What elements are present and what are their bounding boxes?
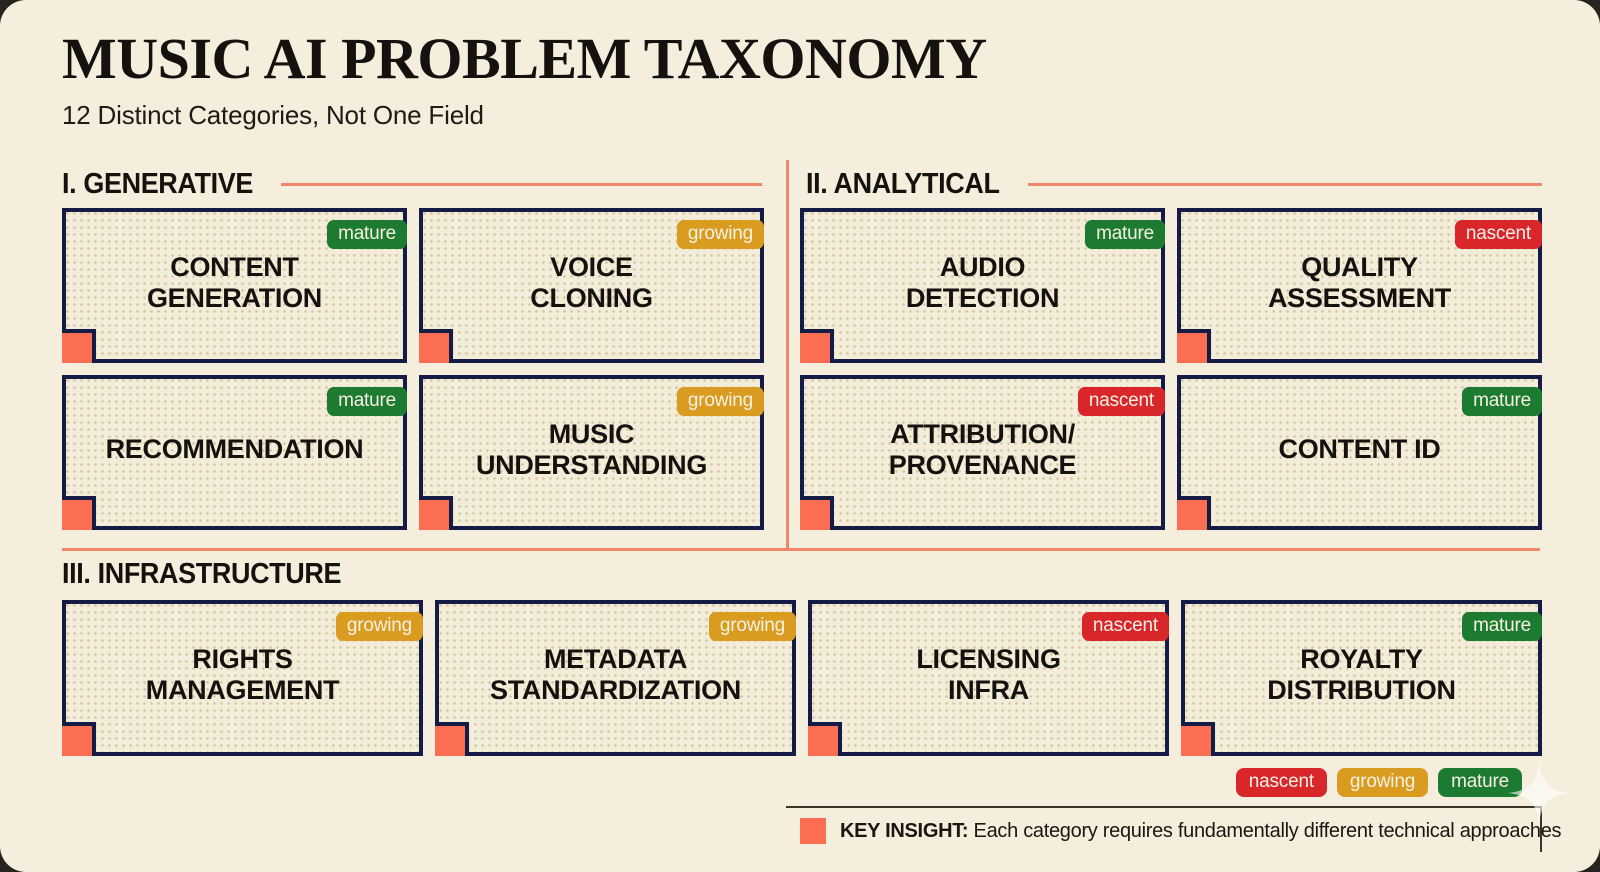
category-title: AUDIO DETECTION	[890, 252, 1075, 314]
category-card[interactable]: mature CONTENT GENERATION	[62, 208, 407, 363]
category-title: RIGHTS MANAGEMENT	[130, 644, 356, 706]
category-card[interactable]: nascent QUALITY ASSESSMENT	[1177, 208, 1542, 363]
corner-marker-icon	[419, 496, 453, 530]
maturity-badge: mature	[1085, 220, 1165, 249]
maturity-legend: nascent growing mature	[1236, 768, 1522, 797]
corner-marker-icon	[62, 496, 96, 530]
corner-marker-icon	[1181, 722, 1215, 756]
category-card[interactable]: growing RIGHTS MANAGEMENT	[62, 600, 423, 756]
section-divider	[62, 548, 1540, 551]
category-card[interactable]: growing MUSIC UNDERSTANDING	[419, 375, 764, 530]
maturity-badge: mature	[1462, 612, 1542, 641]
category-title: ATTRIBUTION/ PROVENANCE	[873, 419, 1093, 481]
category-title: RECOMMENDATION	[90, 434, 380, 465]
page-subtitle: 12 Distinct Categories, Not One Field	[62, 100, 1542, 131]
section-header-analytical: II. ANALYTICAL	[806, 168, 1542, 201]
key-insight-label: KEY INSIGHT:	[840, 820, 968, 842]
category-title: METADATA STANDARDIZATION	[474, 644, 757, 706]
page-title: MUSIC AI PROBLEM TAXONOMY	[62, 30, 1542, 88]
section-label: I. GENERATIVE	[62, 168, 253, 201]
column-divider	[786, 160, 789, 550]
maturity-badge: nascent	[1082, 612, 1169, 641]
legend-pill-growing[interactable]: growing	[1337, 768, 1428, 797]
category-card[interactable]: mature CONTENT ID	[1177, 375, 1542, 530]
category-card[interactable]: nascent LICENSING INFRA	[808, 600, 1169, 756]
section-label: II. ANALYTICAL	[806, 168, 1000, 201]
key-insight-marker-icon	[800, 818, 826, 844]
category-title: CONTENT ID	[1263, 434, 1457, 465]
legend-pill-nascent[interactable]: nascent	[1236, 768, 1327, 797]
key-insight-text: KEY INSIGHT: Each category requires fund…	[840, 820, 1561, 843]
maturity-badge: nascent	[1078, 387, 1165, 416]
corner-marker-icon	[1177, 496, 1211, 530]
category-card[interactable]: mature RECOMMENDATION	[62, 375, 407, 530]
maturity-badge: mature	[1462, 387, 1542, 416]
category-card[interactable]: mature AUDIO DETECTION	[800, 208, 1165, 363]
key-insight-body: Each category requires fundamentally dif…	[974, 820, 1562, 842]
card-grid-generative: mature CONTENT GENERATION growing VOICE …	[62, 208, 764, 530]
key-insight-bar: KEY INSIGHT: Each category requires fund…	[786, 806, 1542, 852]
maturity-badge: growing	[709, 612, 796, 641]
category-title: VOICE CLONING	[514, 252, 668, 314]
category-title: ROYALTY DISTRIBUTION	[1251, 644, 1471, 706]
corner-marker-icon	[808, 722, 842, 756]
corner-marker-icon	[62, 329, 96, 363]
maturity-badge: mature	[327, 387, 407, 416]
poster-header: MUSIC AI PROBLEM TAXONOMY 12 Distinct Ca…	[62, 30, 1542, 131]
maturity-badge: nascent	[1455, 220, 1542, 249]
corner-marker-icon	[435, 722, 469, 756]
section-rule	[281, 183, 762, 186]
corner-marker-icon	[1177, 329, 1211, 363]
corner-marker-icon	[800, 496, 834, 530]
category-title: MUSIC UNDERSTANDING	[460, 419, 723, 481]
category-card[interactable]: nascent ATTRIBUTION/ PROVENANCE	[800, 375, 1165, 530]
category-title: LICENSING INFRA	[900, 644, 1076, 706]
category-title: QUALITY ASSESSMENT	[1252, 252, 1467, 314]
corner-marker-icon	[800, 329, 834, 363]
maturity-badge: growing	[336, 612, 423, 641]
category-card[interactable]: growing METADATA STANDARDIZATION	[435, 600, 796, 756]
category-card[interactable]: mature ROYALTY DISTRIBUTION	[1181, 600, 1542, 756]
card-grid-infrastructure: growing RIGHTS MANAGEMENT growing METADA…	[62, 600, 1542, 756]
legend-pill-mature[interactable]: mature	[1438, 768, 1522, 797]
card-grid-analytical: mature AUDIO DETECTION nascent QUALITY A…	[800, 208, 1542, 530]
maturity-badge: growing	[677, 220, 764, 249]
corner-marker-icon	[419, 329, 453, 363]
section-header-infrastructure: III. INFRASTRUCTURE	[62, 558, 762, 591]
poster-canvas: MUSIC AI PROBLEM TAXONOMY 12 Distinct Ca…	[0, 0, 1600, 872]
maturity-badge: mature	[327, 220, 407, 249]
section-rule	[1028, 183, 1542, 186]
category-card[interactable]: growing VOICE CLONING	[419, 208, 764, 363]
category-title: CONTENT GENERATION	[131, 252, 338, 314]
section-header-generative: I. GENERATIVE	[62, 168, 762, 201]
maturity-badge: growing	[677, 387, 764, 416]
section-label: III. INFRASTRUCTURE	[62, 558, 341, 591]
corner-marker-icon	[62, 722, 96, 756]
